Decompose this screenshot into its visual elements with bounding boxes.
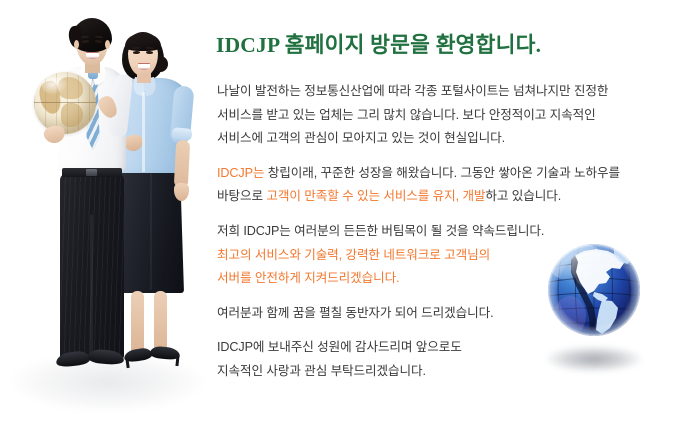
business-pair-photo — [0, 0, 215, 431]
text-line: IDCJP는 창립이래, 꾸준한 성장을 해왔습니다. 그동안 쌓아온 기술과 … — [217, 162, 665, 186]
woman-hair-fringe — [125, 33, 161, 51]
woman-arm-right — [174, 140, 190, 189]
highlighted-text: IDCJP는 — [217, 166, 264, 180]
woman-eye-right — [146, 51, 153, 54]
woman-hand-right — [174, 183, 189, 201]
man-belt-buckle — [86, 169, 97, 176]
body-text: 지속적인 사랑과 관심 부탁드리겠습니다. — [217, 364, 426, 378]
text-line: 서비스에 고객의 관심이 모아지고 있는 것이 현실입니다. — [217, 127, 665, 151]
body-text: 창립이래, 꾸준한 성장을 해왔습니다. 그동안 쌓아온 기술과 노하우를 — [264, 166, 620, 180]
woman-eye-left — [133, 51, 140, 54]
woman-skirt-seam — [150, 172, 152, 290]
antique-globe-equator — [34, 102, 96, 103]
paragraph-growth: IDCJP는 창립이래, 꾸준한 성장을 해왔습니다. 그동안 쌓아온 기술과 … — [217, 162, 665, 209]
body-text: 서비스를 받고 있는 업체는 그리 많치 않습니다. 보다 안정적이고 지속적인 — [217, 108, 596, 122]
blue-globe-icon — [544, 238, 644, 350]
body-text: 서비스에 고객의 관심이 모아지고 있는 것이 현실입니다. — [217, 131, 505, 145]
blue-globe-shadow — [546, 346, 642, 372]
man-eye-right — [95, 40, 102, 43]
antique-globe-highlight — [42, 77, 68, 95]
woman-smile — [138, 63, 150, 70]
text-line: 바탕으로 고객이 만족할 수 있는 서비스를 유지, 개발하고 있습니다. — [217, 185, 665, 209]
woman-leg-left — [131, 291, 144, 353]
man-ear-left — [74, 40, 79, 49]
blue-globe-graphic — [544, 238, 644, 374]
woman-leg-right — [154, 291, 167, 353]
highlighted-text: 최고의 서비스와 기술력, 강력한 네트워크로 고객님의 — [217, 248, 490, 262]
body-text: 하고 있습니다. — [485, 189, 561, 203]
highlighted-text: 고객이 만족할 수 있는 서비스를 유지, 개발 — [266, 189, 485, 203]
man-ear-right — [105, 40, 110, 49]
text-line: 나날이 발전하는 정보통신산업에 따라 각종 포털사이트는 넘쳐나지만 진정한 — [217, 80, 665, 104]
highlighted-text: 서버를 안전하게 지켜드리겠습니다. — [217, 271, 400, 285]
body-text: 여러분과 함께 꿈을 펼칠 동반자가 되어 드리겠습니다. — [217, 306, 494, 320]
body-text: IDCJP에 보내주신 성원에 감사드리며 앞으로도 — [217, 340, 462, 354]
woman-cuff-right — [172, 127, 193, 141]
page-title: IDCJP 홈페이지 방문을 환영합니다. — [216, 28, 541, 59]
body-text: 나날이 발전하는 정보통신산업에 따라 각종 포털사이트는 넘쳐나지만 진정한 — [217, 84, 608, 98]
antique-globe-icon — [34, 72, 96, 134]
man-smile — [86, 52, 99, 59]
body-text: 저희 IDCJP는 여러분의 든든한 버팀목이 될 것을 약속드립니다. — [217, 224, 544, 238]
text-line: 서비스를 받고 있는 업체는 그리 많치 않습니다. 보다 안정적이고 지속적인 — [217, 104, 665, 128]
welcome-page: IDCJP 홈페이지 방문을 환영합니다. 나날이 발전하는 정보통신산업에 따… — [0, 0, 680, 431]
paragraph-intro: 나날이 발전하는 정보통신산업에 따라 각종 포털사이트는 넘쳐나지만 진정한서… — [217, 80, 665, 151]
woman-blouse-placket — [142, 92, 145, 172]
globe-rim-light — [548, 244, 640, 336]
body-text: 바탕으로 — [217, 189, 266, 203]
man-trouser-seam — [90, 215, 93, 360]
